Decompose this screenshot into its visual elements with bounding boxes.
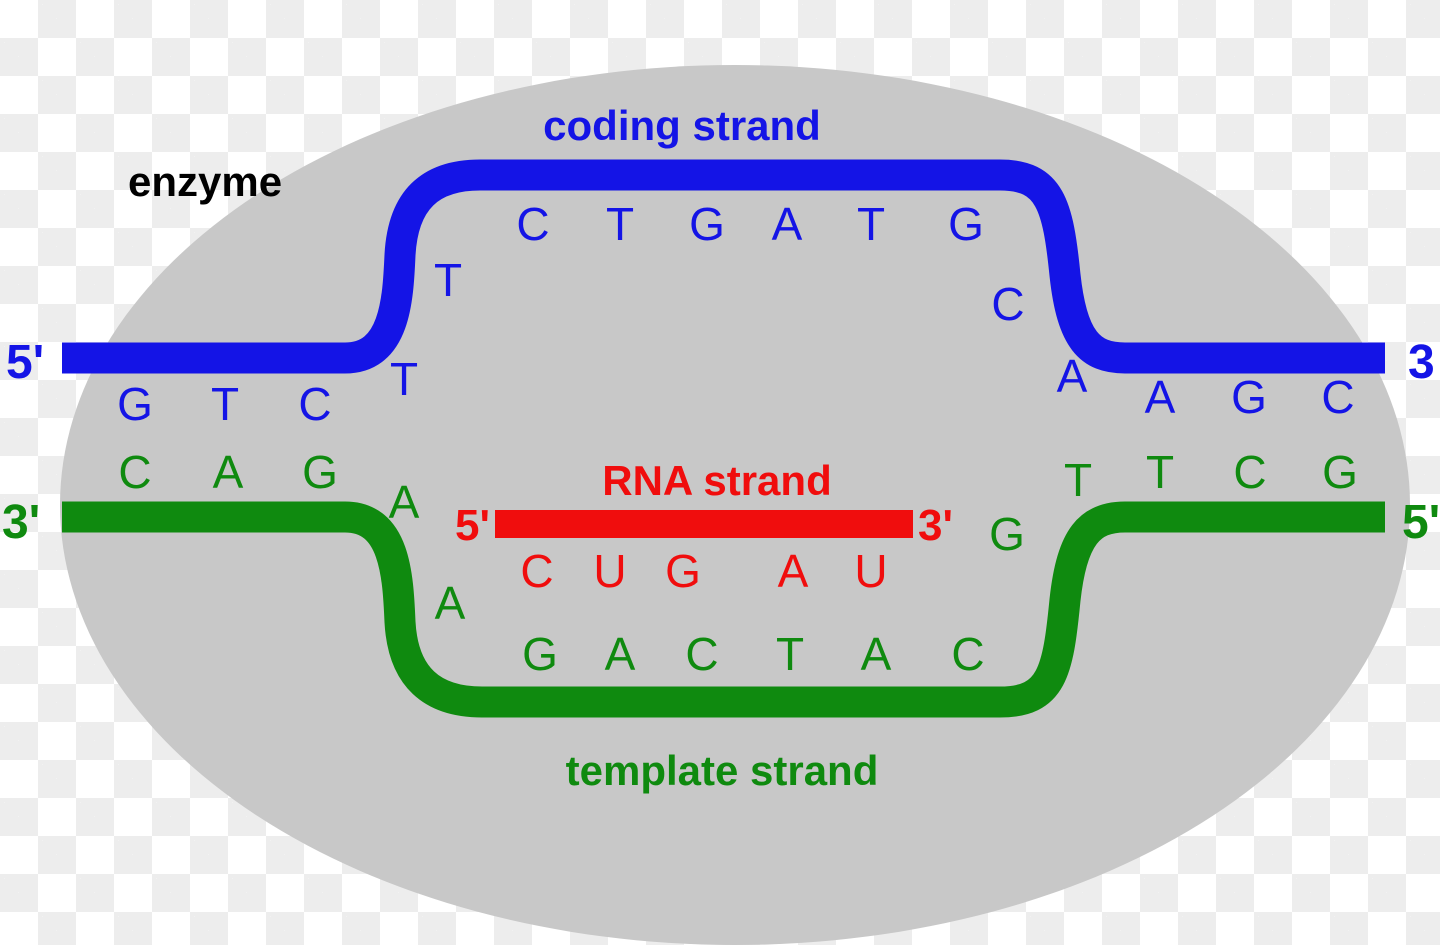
base-letter: G [522, 628, 558, 680]
coding-5-prime-label: 5' [6, 336, 44, 389]
coding-strand-label: coding strand [543, 102, 821, 149]
transcription-diagram: G T C T T C T G A T G C A A G C [0, 0, 1440, 945]
base-letter: A [772, 198, 803, 250]
base-letter: C [520, 545, 553, 597]
base-letter: T [776, 628, 804, 680]
base-letter: G [989, 508, 1025, 560]
rna-3-prime-label: 3' [918, 501, 953, 550]
base-letter: U [854, 545, 887, 597]
base-letter: T [390, 353, 418, 405]
coding-bases-outside-left: G T C [117, 378, 332, 430]
coding-3-prime-label: 3 [1408, 336, 1435, 389]
base-letter: A [1145, 371, 1176, 423]
base-letter: C [118, 446, 151, 498]
base-letter: C [685, 628, 718, 680]
rna-strand-label: RNA strand [602, 457, 831, 504]
base-letter: A [389, 476, 420, 528]
base-letter: G [665, 545, 701, 597]
base-letter: A [861, 628, 892, 680]
base-letter: T [606, 198, 634, 250]
template-bases-outside-left: C A G [118, 446, 338, 498]
rna-strand-bar [495, 510, 913, 538]
base-letter: G [948, 198, 984, 250]
template-5-prime-label: 5' [1402, 496, 1440, 549]
base-letter: C [951, 628, 984, 680]
rna-5-prime-label: 5' [455, 501, 490, 550]
base-letter: G [1231, 371, 1267, 423]
template-3-prime-label: 3' [2, 496, 40, 549]
base-letter: U [593, 545, 626, 597]
base-letter: T [434, 254, 462, 306]
base-letter: C [1233, 446, 1266, 498]
base-letter: T [211, 378, 239, 430]
base-letter: T [1064, 454, 1092, 506]
base-letter: G [302, 446, 338, 498]
base-letter: A [605, 628, 636, 680]
base-letter: C [1321, 371, 1354, 423]
base-letter: G [689, 198, 725, 250]
base-letter: T [1146, 446, 1174, 498]
base-letter: A [213, 446, 244, 498]
base-letter: C [298, 378, 331, 430]
enzyme-label: enzyme [128, 158, 282, 205]
base-letter: A [778, 545, 809, 597]
base-letter: A [435, 577, 466, 629]
diagram-canvas: G T C T T C T G A T G C A A G C [0, 0, 1440, 945]
base-letter: C [991, 278, 1024, 330]
base-letter: T [857, 198, 885, 250]
base-letter: C [516, 198, 549, 250]
template-strand-label: template strand [566, 747, 879, 794]
base-letter: G [1322, 446, 1358, 498]
base-letter: A [1057, 350, 1088, 402]
base-letter: G [117, 378, 153, 430]
